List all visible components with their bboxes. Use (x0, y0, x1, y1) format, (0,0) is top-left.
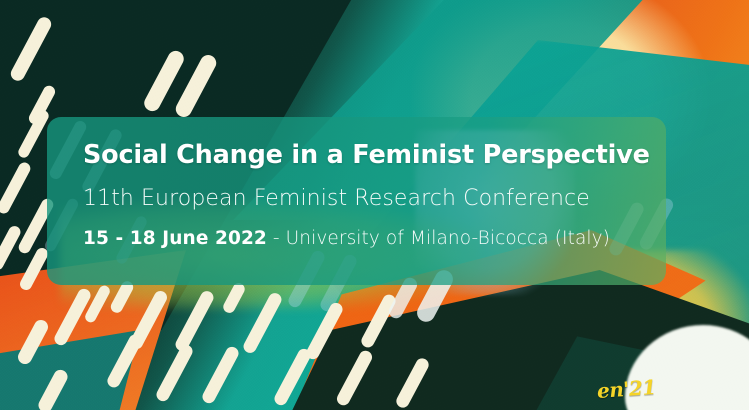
conference-dates: 15 - 18 June 2022 (83, 228, 267, 249)
brush-stroke (272, 347, 313, 408)
conference-info-card: Social Change in a Feminist Perspective … (47, 117, 666, 285)
brush-stroke (394, 356, 431, 410)
brush-stroke (221, 281, 247, 315)
brush-stroke (105, 332, 144, 389)
page-title: Social Change in a Feminist Perspective (83, 143, 630, 169)
conference-subtitle: 11th European Feminist Research Conferen… (83, 188, 630, 210)
brush-stroke (83, 284, 111, 324)
brush-stroke (0, 224, 23, 272)
brush-stroke (8, 15, 53, 83)
brush-stroke (154, 343, 195, 404)
brush-stroke (0, 160, 32, 215)
artist-signature: en'21 (596, 375, 656, 403)
brush-stroke (200, 345, 241, 406)
brush-stroke (173, 289, 215, 353)
brush-stroke (241, 291, 283, 355)
brush-stroke (359, 292, 398, 349)
brush-stroke (335, 348, 375, 407)
brush-stroke (18, 246, 50, 292)
background-dark-band-lower (230, 270, 749, 410)
brush-stroke (52, 287, 93, 348)
brush-stroke (141, 48, 186, 114)
conference-meta: 15 - 18 June 2022 - University of Milano… (83, 230, 630, 249)
conference-banner: Social Change in a Feminist Perspective … (0, 0, 749, 410)
brush-stroke (304, 301, 345, 362)
brush-stroke (16, 318, 51, 367)
brush-stroke (16, 108, 50, 159)
brush-stroke (173, 52, 219, 120)
brush-stroke (128, 289, 170, 352)
conference-location: - University of Milano-Bicocca (Italy) (267, 228, 610, 249)
brush-stroke (36, 367, 70, 410)
background-teal-block-left (0, 330, 180, 410)
